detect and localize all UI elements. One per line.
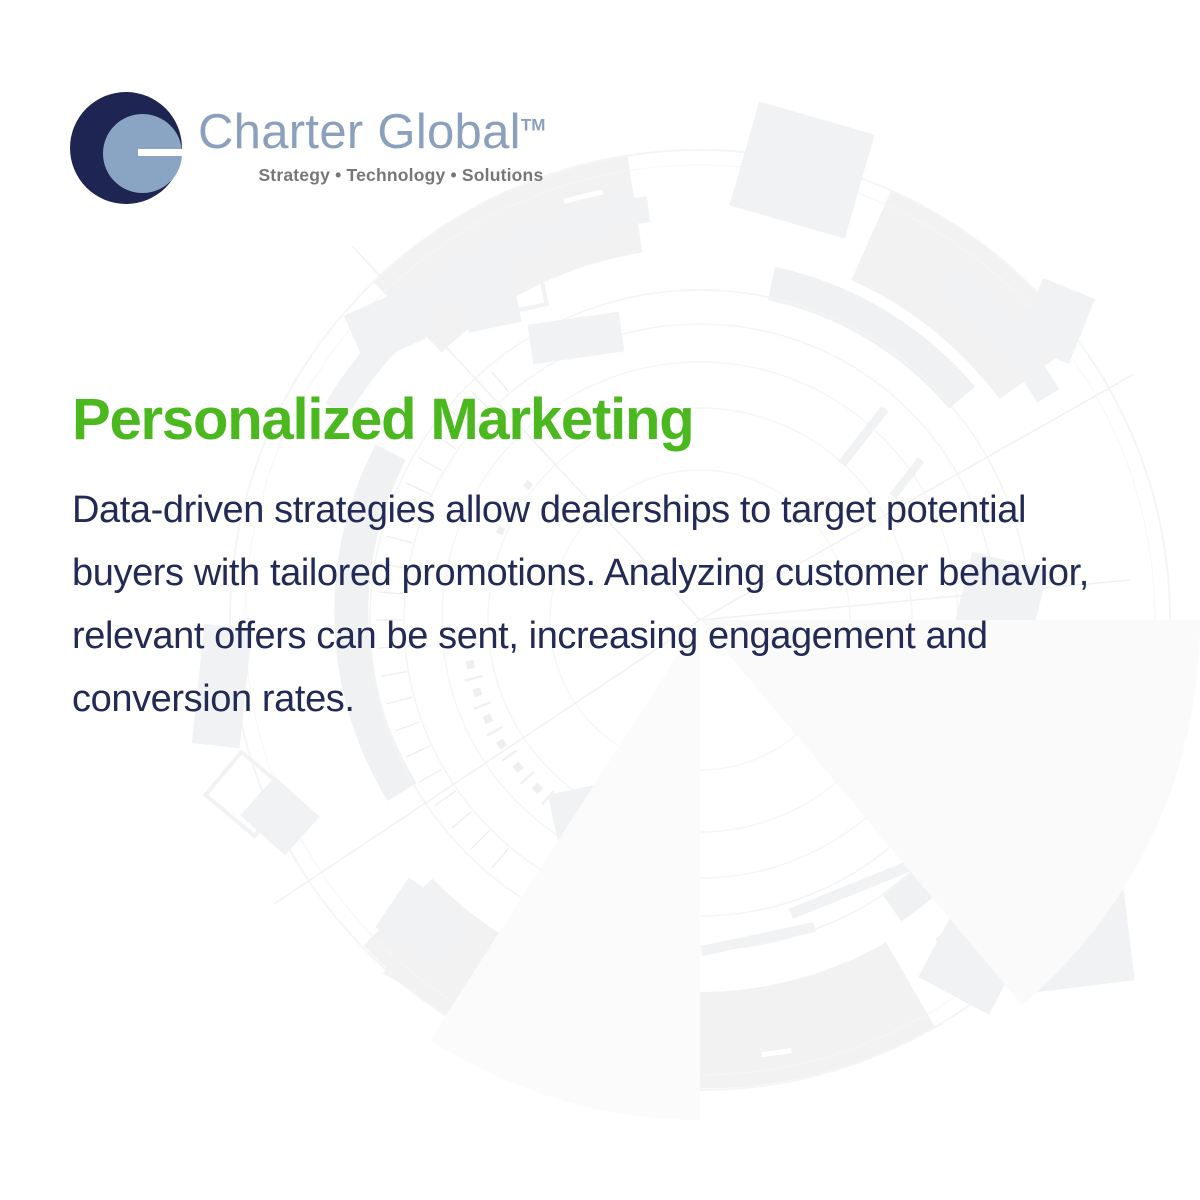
brand-wordmark: Charter GlobalTM xyxy=(198,108,545,157)
brand-tagline: Strategy • Technology • Solutions xyxy=(198,165,545,186)
charter-global-circle-logo-icon xyxy=(70,92,186,204)
brand-logo[interactable]: Charter GlobalTM Strategy • Technology •… xyxy=(70,92,545,204)
trademark-symbol: TM xyxy=(521,116,546,135)
brand-logo-text: Charter GlobalTM Strategy • Technology •… xyxy=(198,92,545,186)
logo-slot-bar xyxy=(138,149,184,156)
brand-wordmark-label: Charter Global xyxy=(198,105,521,159)
body-paragraph: Data-driven strategies allow dealerships… xyxy=(72,479,1142,731)
page-title: Personalized Marketing xyxy=(72,390,1147,451)
social-post-card: Charter GlobalTM Strategy • Technology •… xyxy=(0,0,1200,1200)
copy-block: Personalized Marketing Data-driven strat… xyxy=(72,390,1147,731)
